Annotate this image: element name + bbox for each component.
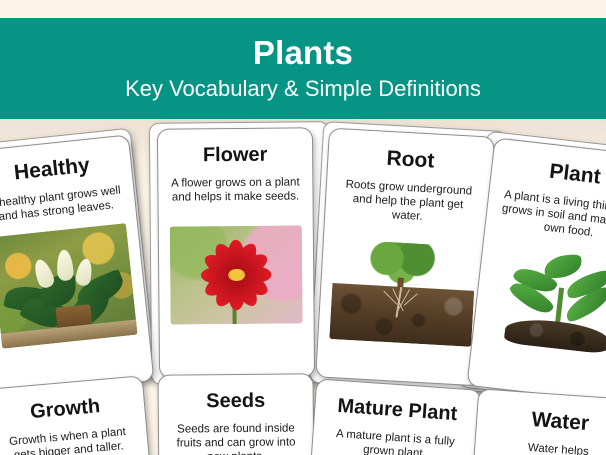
flashcard-title: Mature Plant <box>337 396 458 426</box>
flashcard-title: Plant <box>548 161 602 189</box>
flashcard-healthy[interactable]: Healthy A healthy plant grows well and h… <box>0 134 155 397</box>
flashcard-seeds[interactable]: Seeds Seeds are found inside fruits and … <box>157 373 314 455</box>
flashcard-mature-plant[interactable]: Mature Plant A mature plant is a fully g… <box>308 378 482 455</box>
flashcard-title: Water <box>531 409 590 436</box>
flashcard-root[interactable]: Root Roots grow underground and help the… <box>315 128 495 387</box>
flashcard-title: Flower <box>203 145 268 167</box>
flashcard-title: Healthy <box>13 155 91 185</box>
flashcard-definition: Roots grow underground and help the plan… <box>337 177 479 227</box>
flashcard-definition: A flower grows on a plant and helps it m… <box>169 175 301 204</box>
flashcard-photo-red-zinnia <box>170 225 303 324</box>
flashcard-water[interactable]: Water Water helps <box>470 388 606 455</box>
flashcard-title: Growth <box>29 396 101 424</box>
flashcard-definition: A plant is a living thing that grows in … <box>496 187 606 245</box>
page-subtitle: Key Vocabulary & Simple Definitions <box>125 77 481 101</box>
flashcard-photo-seedling <box>483 239 606 359</box>
flashcard-title: Root <box>386 148 435 173</box>
header-banner: Plants Key Vocabulary & Simple Definitio… <box>0 18 606 119</box>
flashcard-definition: A mature plant is a fully grown plant. <box>323 426 467 455</box>
flashcard-preview-canvas: Healthy A healthy plant grows well and h… <box>0 0 606 455</box>
flashcard-definition: A healthy plant grows well and has stron… <box>0 183 125 225</box>
flashcard-title: Seeds <box>206 391 265 413</box>
flashcard-growth[interactable]: Growth Growth is when a plant gets bigge… <box>0 375 153 455</box>
flashcard-flower[interactable]: Flower A flower grows on a plant and hel… <box>157 127 315 378</box>
flashcard-definition: Water helps <box>527 441 589 455</box>
flashcard-definition: Growth is when a plant gets bigger and t… <box>0 424 137 455</box>
page-title: Plants <box>253 36 353 71</box>
flashcard-definition: Seeds are found inside fruits and can gr… <box>170 421 302 455</box>
flashcard-photo-tree-roots <box>329 235 477 347</box>
flashcard-photo-peace-lily <box>0 223 138 349</box>
